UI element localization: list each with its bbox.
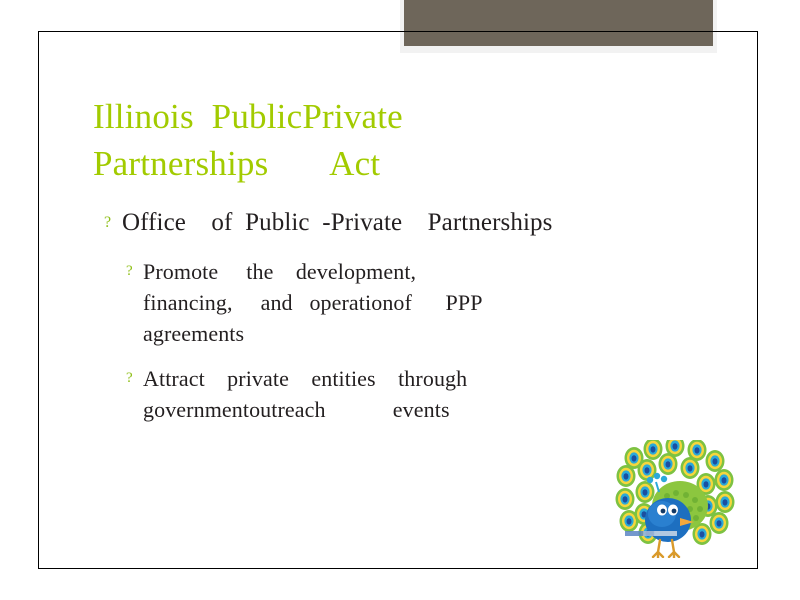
bullet-marker-icon: ? — [126, 256, 143, 287]
list-item: ? Promote the development, financing, an… — [126, 256, 704, 349]
slide-body-list: ? Office of Public -Private Partnerships… — [104, 206, 704, 439]
list-item-text: Office of Public -Private Partnerships — [122, 206, 704, 240]
peacock-caption-artifact — [625, 531, 677, 536]
peacock-image — [612, 440, 738, 558]
bullet-marker-icon: ? — [104, 206, 122, 240]
slide-title: Illinois PublicPrivate Partnerships Act — [93, 93, 653, 187]
list-item-text: Promote the development, financing, and … — [143, 256, 704, 349]
list-item: ? Attract private entities through gover… — [126, 363, 704, 425]
list-item: ? Office of Public -Private Partnerships — [104, 206, 704, 240]
peacock-legs — [653, 540, 679, 558]
list-item-text: Attract private entities through governm… — [143, 363, 704, 425]
bullet-marker-icon: ? — [126, 363, 143, 394]
